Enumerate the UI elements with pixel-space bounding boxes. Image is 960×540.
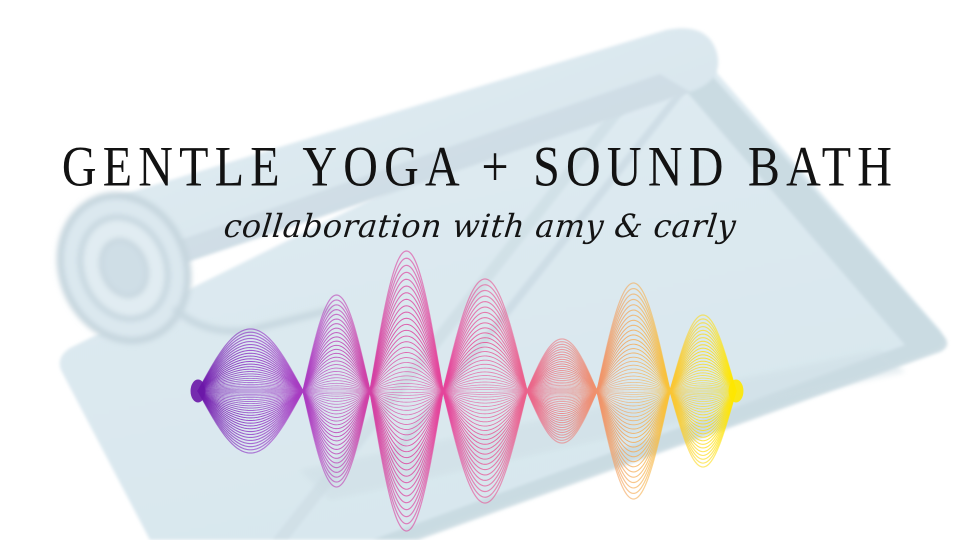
wave-line [198,299,736,391]
mat-crease-2 [386,70,700,464]
wave-line [198,391,736,440]
wave-line [198,318,736,391]
wave-line [198,391,736,424]
wave-line [198,391,736,489]
wave-line [198,376,736,391]
yoga-mat-illustration [0,0,960,540]
wave-line [198,372,736,391]
mat-surface [60,42,944,540]
wave-line [198,380,736,391]
mat-body-group [60,42,947,540]
mat-under-edge [372,60,947,540]
wave-line [198,391,736,402]
wave-line [198,367,736,391]
wave-line [198,352,736,391]
wave-line-group [191,251,743,531]
wave-line [198,391,736,420]
wave-line [198,383,736,391]
wave-line [198,336,736,391]
wave-line [198,391,736,476]
page-title: GENTLE YOGA + SOUND BATH [19,134,941,198]
wave-start-node [191,380,205,402]
wave-line [198,391,736,430]
roll-spiral-tail [176,310,330,331]
wave-line [198,391,736,524]
wave-line [198,279,736,391]
wave-line [198,286,736,391]
wave-line [198,391,736,503]
wave-line [198,391,736,446]
wave-line [198,391,736,415]
poster-canvas: GENTLE YOGA + SOUND BATH collaboration w… [0,0,960,540]
wave-line [198,391,736,395]
sound-wave-graphic [0,0,960,540]
wave-line [198,391,736,531]
wave-line [198,391,736,458]
wave-line [198,251,736,391]
wave-line [198,391,736,435]
mat-crease [272,44,676,540]
wave-line [198,391,736,406]
wave-line [198,391,736,483]
wave-line [198,391,736,399]
wave-line [198,312,736,391]
wave-line [198,391,736,393]
wave-line [198,391,736,470]
wave-line [198,342,736,391]
wave-line [198,391,736,410]
wave-end-node [729,380,743,402]
wave-line [198,330,736,391]
wave-line [198,391,736,452]
wave-line [198,347,736,391]
wave-line [198,358,736,391]
wave-line [198,324,736,391]
wave-line [198,389,736,391]
wave-line [198,272,736,391]
wave-line [198,391,736,496]
wave-line [198,387,736,391]
wave-line [198,391,736,517]
wave-line [198,265,736,391]
poster-subtitle: collaboration with amy & carly [2,204,957,248]
wave-line [198,306,736,391]
mat-ground-shadow [300,350,905,500]
wave-line [198,391,736,464]
wave-line [198,391,736,510]
wave-line [198,293,736,391]
wave-line [198,258,736,391]
wave-line [198,362,736,391]
